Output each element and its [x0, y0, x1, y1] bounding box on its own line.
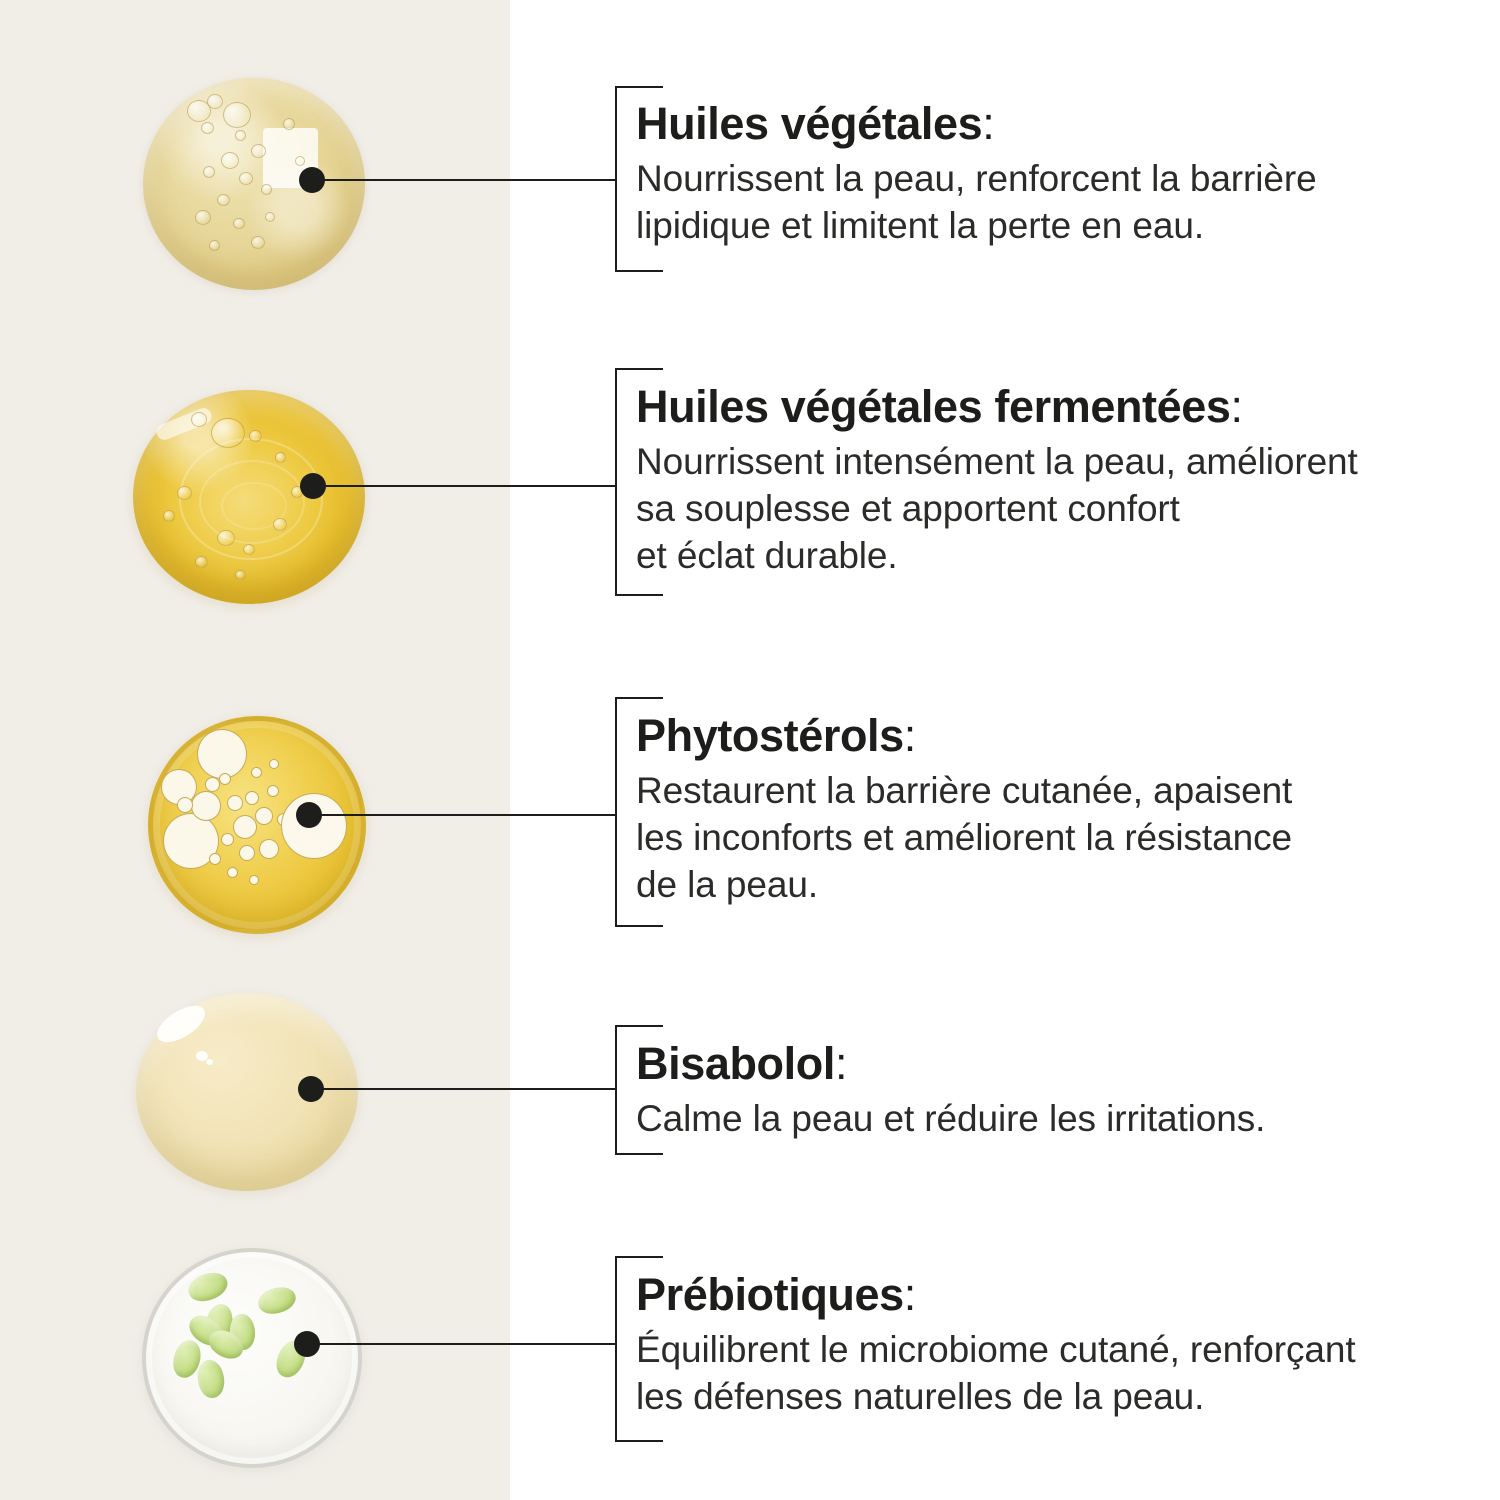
bubble-icon	[227, 867, 238, 878]
bubble-icon	[267, 785, 279, 797]
bubble-icon	[245, 791, 259, 805]
bubble-icon	[223, 102, 251, 128]
ingredient-description: Nourrissent la peau, renforcent la barri…	[636, 155, 1317, 250]
bracket-arm-top	[617, 1256, 663, 1258]
callout-bracket	[615, 1256, 617, 1442]
ingredient-title: Phytostérols:	[636, 712, 1292, 761]
granule-icon	[195, 1358, 227, 1400]
swatch-clear-petri-dish	[142, 1248, 362, 1468]
bubble-icon	[205, 777, 220, 792]
bubble-icon	[251, 767, 262, 778]
bubble-icon	[239, 845, 255, 861]
granule-icon	[185, 1268, 231, 1305]
callout-text-block: Phytostérols: Restaurent la barrière cut…	[636, 712, 1292, 909]
bubble-icon	[221, 833, 234, 846]
bubble-icon	[233, 218, 245, 229]
bubble-icon	[211, 418, 245, 448]
ingredient-title: Prébiotiques:	[636, 1271, 1356, 1320]
callout-text-block: Prébiotiques: Équilibrent le microbiome …	[636, 1271, 1356, 1420]
ingredient-infographic: Huiles végétales: Nourrissent la peau, r…	[0, 0, 1500, 1500]
bubble-icon	[201, 122, 214, 134]
bubble-icon	[219, 773, 231, 785]
callout-line	[313, 485, 616, 487]
bubble-icon	[191, 791, 221, 821]
ingredient-description: Restaurent la barrière cutanée, apaisent…	[636, 767, 1292, 909]
swatch-golden-petri-dish	[148, 716, 366, 934]
bubble-icon	[269, 759, 279, 769]
callout-line	[312, 179, 616, 181]
callout-line	[311, 1088, 616, 1090]
swatch-pale-yellow-oil-drop	[143, 78, 365, 290]
swatch-highlight	[206, 1059, 213, 1065]
bubble-icon	[203, 166, 215, 178]
bubble-icon	[261, 184, 272, 195]
bubble-icon	[221, 152, 239, 169]
bubble-icon	[217, 530, 235, 546]
bubble-icon	[251, 144, 266, 158]
bubble-icon	[295, 156, 305, 166]
bracket-arm-bottom	[617, 1153, 663, 1155]
bubble-icon	[197, 729, 247, 779]
bubble-icon	[273, 518, 287, 531]
bubble-icon	[235, 130, 246, 141]
swatch-golden-fermented-oil-drop	[133, 390, 365, 604]
callout-line	[309, 814, 616, 816]
bubble-icon	[243, 544, 255, 555]
bubble-icon	[239, 172, 253, 185]
bracket-arm-top	[617, 1025, 663, 1027]
bubble-icon	[195, 210, 211, 225]
bubble-icon	[251, 236, 265, 249]
granule-icon	[256, 1284, 299, 1317]
bubble-icon	[177, 797, 193, 813]
bubble-icon	[163, 510, 175, 522]
ingredient-title: Huiles végétales:	[636, 100, 1317, 149]
bracket-arm-bottom	[617, 925, 663, 927]
callout-line	[307, 1343, 616, 1345]
bubble-icon	[227, 795, 243, 811]
callout-text-block: Huiles végétales fermentées: Nourrissent…	[636, 383, 1358, 580]
callout-bracket	[615, 368, 617, 596]
swatch-cream-droplet	[136, 993, 358, 1191]
bubble-icon	[209, 853, 221, 865]
bubble-icon	[207, 94, 223, 109]
callout-text-block: Bisabolol: Calme la peau et réduire les …	[636, 1040, 1265, 1142]
bubble-icon	[195, 556, 208, 568]
bubble-icon	[191, 412, 207, 427]
bubble-icon	[235, 570, 246, 580]
bracket-arm-top	[617, 368, 663, 370]
bubble-icon	[283, 118, 295, 130]
bracket-arm-bottom	[617, 1440, 663, 1442]
bubble-icon	[255, 807, 273, 825]
bubble-icon	[259, 839, 279, 859]
bubble-icon	[249, 875, 259, 885]
bracket-arm-bottom	[617, 270, 663, 272]
ingredient-description: Équilibrent le microbiome cutané, renfor…	[636, 1326, 1356, 1421]
bubble-icon	[217, 194, 230, 206]
ingredient-title: Huiles végétales fermentées:	[636, 383, 1358, 432]
ingredient-description: Nourrissent intensément la peau, amélior…	[636, 438, 1358, 580]
bubble-icon	[233, 815, 257, 839]
bubble-icon	[265, 212, 275, 222]
bubble-icon	[177, 486, 192, 500]
ingredient-description: Calme la peau et réduire les irritations…	[636, 1095, 1265, 1142]
bracket-arm-top	[617, 697, 663, 699]
bubble-icon	[209, 240, 220, 251]
ingredient-title: Bisabolol:	[636, 1040, 1265, 1089]
callout-text-block: Huiles végétales: Nourrissent la peau, r…	[636, 100, 1317, 249]
bracket-arm-top	[617, 86, 663, 88]
bubble-icon	[249, 430, 262, 442]
callout-bracket	[615, 86, 617, 272]
callout-bracket	[615, 697, 617, 927]
bubble-icon	[275, 452, 286, 463]
callout-bracket	[615, 1025, 617, 1155]
bracket-arm-bottom	[617, 594, 663, 596]
